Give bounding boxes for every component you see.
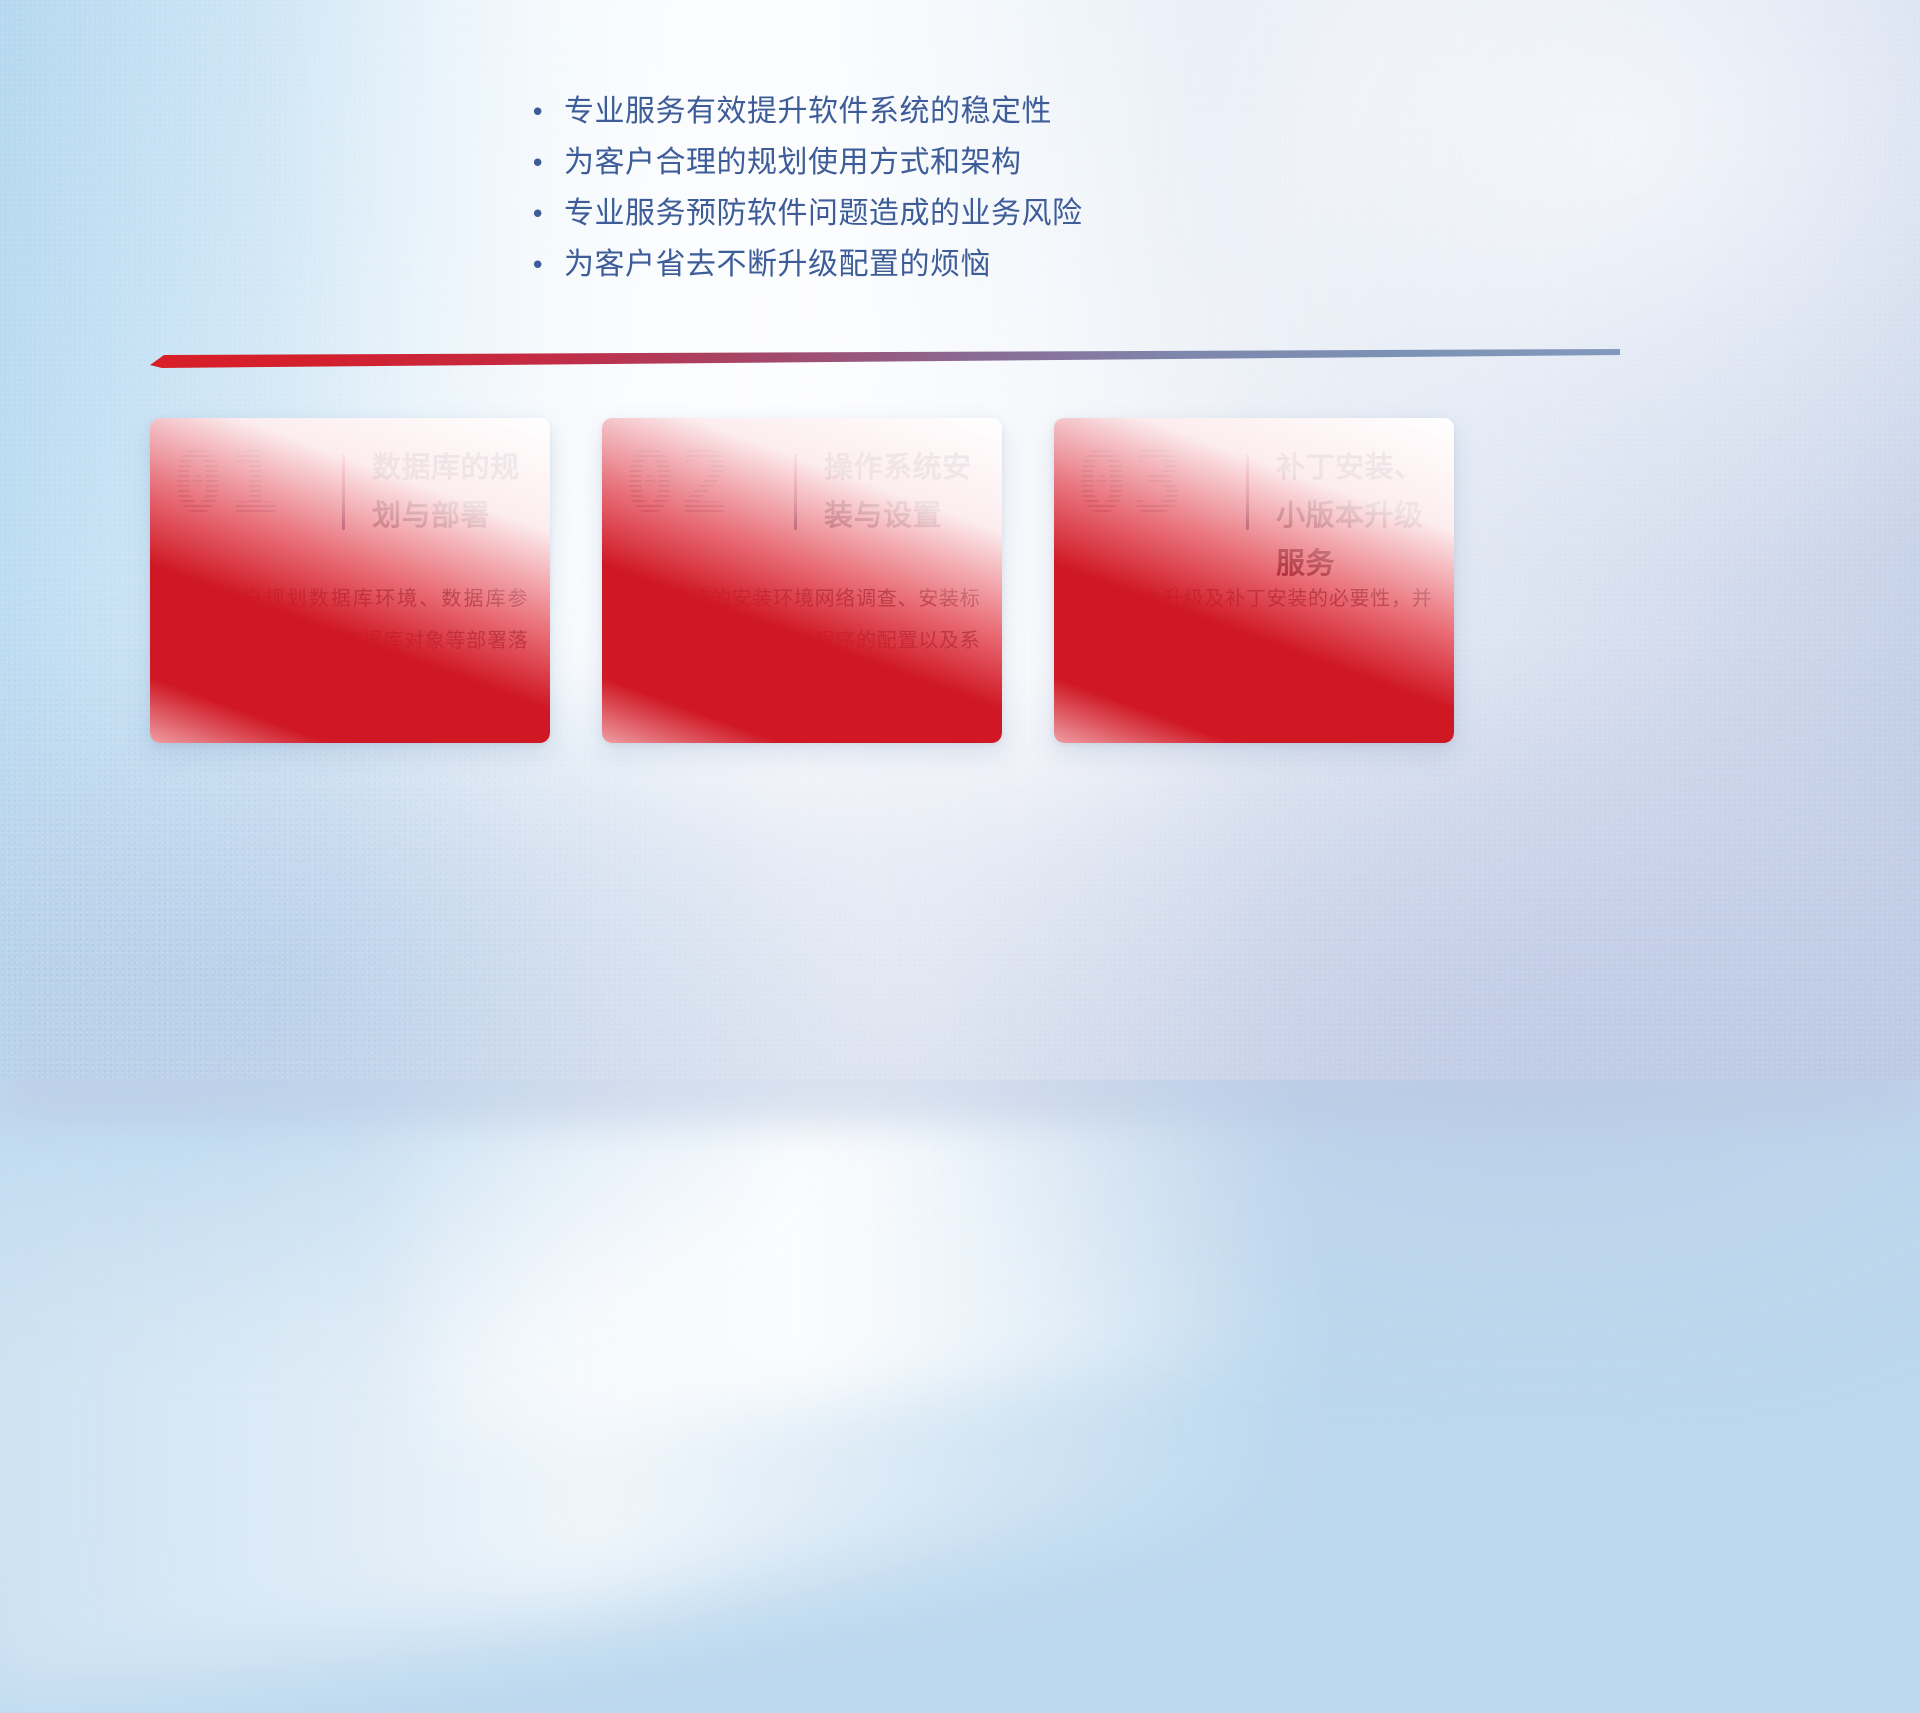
service-card-body: 协助客户规划数据库环境、数据库参数、数据库空间、数据库对象等部署落地。: [176, 578, 528, 704]
bullet-item: •专业服务预防软件问题造成的业务风险: [530, 188, 1350, 239]
bullet-marker-icon: •: [530, 100, 564, 126]
section-divider-shape: [150, 345, 1620, 371]
card-vertical-rule: [1246, 454, 1249, 530]
section-divider: [150, 345, 1620, 371]
service-card-list: 01数据库的规划与部署协助客户规划数据库环境、数据库参数、数据库空间、数据库对象…: [150, 418, 1770, 743]
bullet-item-text: 为客户合理的规划使用方式和架构: [564, 137, 1022, 181]
service-card-inner: 03补丁安装、小版本升级服务评估版本升级及补丁安装的必要性，并提交实施计划。: [1054, 418, 1454, 743]
service-card-number: 01: [172, 440, 284, 526]
service-card-inner: 01数据库的规划与部署协助客户规划数据库环境、数据库参数、数据库空间、数据库对象…: [150, 418, 550, 743]
bullet-item: •为客户省去不断升级配置的烦恼: [530, 239, 1350, 290]
bullet-item-text: 专业服务有效提升软件系统的稳定性: [564, 86, 1052, 130]
service-card-inner: 02操作系统安装与设置操作系统的安装环境网络调查、安装标准及复核步骤、驱动程序的…: [602, 418, 1002, 743]
bullet-marker-icon: •: [530, 202, 564, 228]
service-card-number: 02: [624, 440, 736, 526]
bullet-marker-icon: •: [530, 151, 564, 177]
service-card-header: 01数据库的规划与部署: [150, 418, 550, 570]
bullet-item: •为客户合理的规划使用方式和架构: [530, 137, 1350, 188]
service-card-header: 02操作系统安装与设置: [602, 418, 1002, 570]
bullet-item: •专业服务有效提升软件系统的稳定性: [530, 86, 1350, 137]
service-card-header: 03补丁安装、小版本升级服务: [1054, 418, 1454, 570]
service-card[interactable]: 01数据库的规划与部署协助客户规划数据库环境、数据库参数、数据库空间、数据库对象…: [150, 418, 550, 743]
service-card-title: 数据库的规划与部署: [372, 444, 537, 540]
bullet-item-text: 为客户省去不断升级配置的烦恼: [564, 239, 991, 283]
service-card-body: 评估版本升级及补丁安装的必要性，并提交实施计划。: [1080, 578, 1432, 662]
service-card[interactable]: 02操作系统安装与设置操作系统的安装环境网络调查、安装标准及复核步骤、驱动程序的…: [602, 418, 1002, 743]
service-card-number: 03: [1076, 440, 1188, 526]
service-card-title: 操作系统安装与设置: [824, 444, 989, 540]
card-vertical-rule: [342, 454, 345, 530]
service-card-body: 操作系统的安装环境网络调查、安装标准及复核步骤、驱动程序的配置以及系统的设置等内…: [628, 578, 980, 704]
benefits-bullet-list: •专业服务有效提升软件系统的稳定性•为客户合理的规划使用方式和架构•专业服务预防…: [530, 86, 1350, 290]
bullet-item-text: 专业服务预防软件问题造成的业务风险: [564, 188, 1083, 232]
service-card-title: 补丁安装、小版本升级服务: [1276, 444, 1441, 588]
service-card[interactable]: 03补丁安装、小版本升级服务评估版本升级及补丁安装的必要性，并提交实施计划。: [1054, 418, 1454, 743]
card-vertical-rule: [794, 454, 797, 530]
bullet-marker-icon: •: [530, 253, 564, 279]
